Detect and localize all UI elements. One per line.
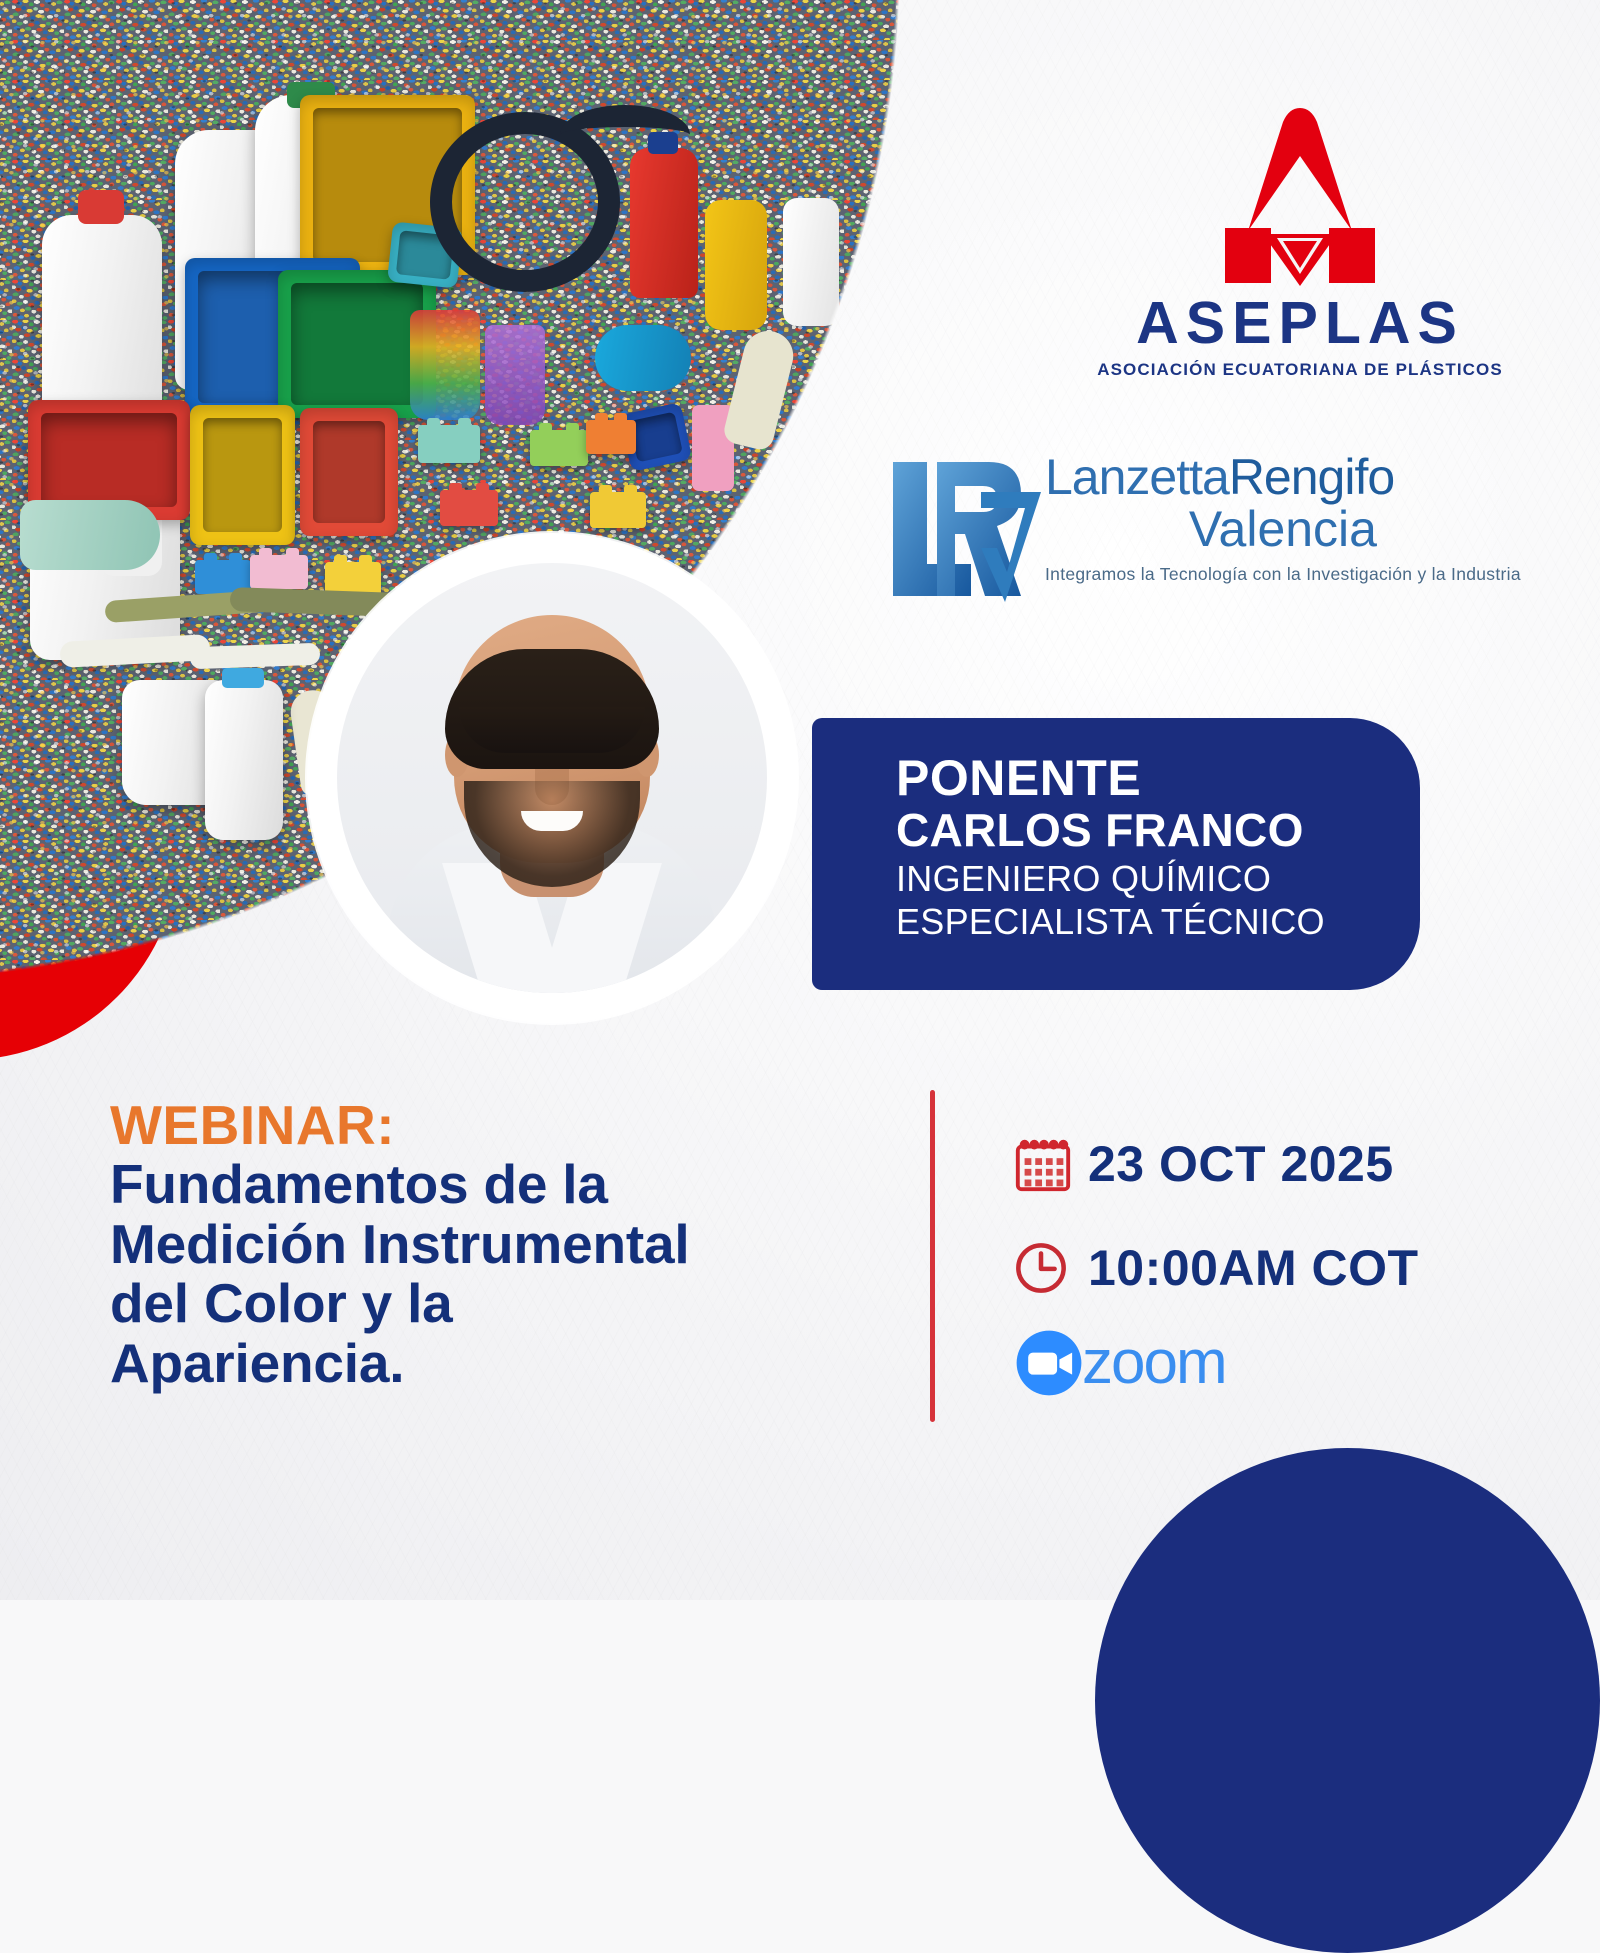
lrv-rengifo: Rengifo bbox=[1229, 449, 1394, 505]
webinar-title-line1: Fundamentos de la bbox=[110, 1155, 900, 1214]
yellow-crate-2 bbox=[190, 405, 295, 545]
red-bottle bbox=[630, 148, 698, 298]
lrv-logo: LanzettaRengifo Valencia Integramos la T… bbox=[885, 452, 1485, 606]
toy-brick-red bbox=[440, 490, 498, 526]
webinar-title-line3: del Color y la bbox=[110, 1274, 900, 1333]
head bbox=[454, 615, 650, 863]
toy-brick-yellow bbox=[590, 492, 646, 528]
speaker-portrait-frame bbox=[307, 533, 797, 1023]
webinar-title-line4: Apariencia. bbox=[110, 1334, 900, 1393]
blue-bottle bbox=[595, 325, 691, 391]
yellow-bottle bbox=[705, 200, 767, 330]
blue-cap-bottom bbox=[222, 668, 264, 688]
event-date: 23 OCT 2025 bbox=[1088, 1135, 1394, 1193]
lrv-monogram-icon bbox=[885, 456, 1045, 606]
webinar-title-block: WEBINAR: Fundamentos de la Medición Inst… bbox=[110, 1096, 900, 1393]
event-details: 23 OCT 2025 10:00AM COT zoom bbox=[1012, 1112, 1419, 1400]
speaker-title-line1: INGENIERO QUÍMICO bbox=[896, 857, 1420, 900]
white-fork bbox=[190, 643, 321, 670]
lrv-tagline: Integramos la Tecnología con la Investig… bbox=[1045, 564, 1521, 585]
avatar bbox=[337, 563, 767, 993]
event-time-row: 10:00AM COT bbox=[1012, 1216, 1419, 1320]
webinar-kicker: WEBINAR: bbox=[110, 1096, 900, 1155]
white-bottle-bottom bbox=[205, 680, 283, 840]
lrv-name-line2: Valencia bbox=[1045, 502, 1521, 556]
event-platform-row: zoom bbox=[1012, 1326, 1419, 1400]
speaker-name: CARLOS FRANCO bbox=[896, 805, 1420, 857]
red-bottle-cap bbox=[648, 132, 678, 154]
vertical-divider bbox=[930, 1090, 935, 1422]
event-time: 10:00AM COT bbox=[1088, 1239, 1419, 1297]
aseplas-a-icon bbox=[1205, 108, 1395, 288]
speaker-card: PONENTE CARLOS FRANCO INGENIERO QUÍMICO … bbox=[812, 718, 1420, 990]
purple-cup bbox=[485, 325, 545, 425]
hair bbox=[445, 649, 659, 769]
zoom-camera-icon bbox=[1012, 1326, 1086, 1400]
aseplas-logo: ASEPLAS ASOCIACIÓN ECUATORIANA DE PLÁSTI… bbox=[1070, 108, 1530, 380]
toy-brick-mint bbox=[418, 425, 480, 463]
clock-icon bbox=[1012, 1239, 1088, 1297]
aseplas-name: ASEPLAS bbox=[1070, 294, 1530, 353]
red-crate-2 bbox=[300, 408, 398, 536]
webinar-title-line2: Medición Instrumental bbox=[110, 1215, 900, 1274]
bottle-cap bbox=[78, 190, 124, 224]
mint-jar bbox=[20, 500, 160, 570]
aseplas-tagline: ASOCIACIÓN ECUATORIANA DE PLÁSTICOS bbox=[1070, 360, 1530, 380]
speaker-title-line2: ESPECIALISTA TÉCNICO bbox=[896, 900, 1420, 943]
lrv-name-line1: LanzettaRengifo bbox=[1045, 452, 1521, 502]
toy-brick-green bbox=[530, 430, 588, 466]
speaker-role-label: PONENTE bbox=[896, 752, 1420, 805]
toy-brick-orange bbox=[586, 420, 636, 454]
toy-brick-pink bbox=[250, 555, 308, 589]
navy-accent-circle bbox=[1095, 1448, 1600, 1953]
rainbow-cups bbox=[410, 310, 480, 420]
event-date-row: 23 OCT 2025 bbox=[1012, 1112, 1419, 1216]
white-bottle-right bbox=[783, 198, 839, 326]
zoom-wordmark: zoom bbox=[1082, 1332, 1226, 1394]
lrv-lanzetta: Lanzetta bbox=[1045, 449, 1229, 505]
calendar-icon bbox=[1012, 1133, 1088, 1195]
